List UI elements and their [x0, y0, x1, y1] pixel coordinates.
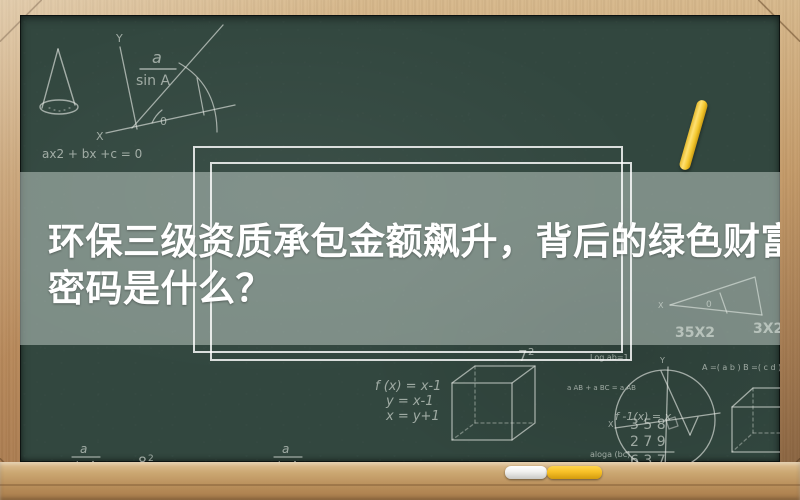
chalk-small-equation: a AB + a BC = a AB: [567, 384, 636, 392]
chalk-log-label: Log ab=1: [590, 353, 629, 362]
chalk-fx-line3: x = y+1: [385, 409, 440, 424]
chalk-axis-y: [120, 47, 137, 129]
chalk-alog-label: aloga (bc): [590, 450, 630, 459]
chalk-exponent-8: 8: [138, 455, 147, 462]
chalkboard-surface: a sin A Y X 0 ax2 + bx +c = 0: [20, 15, 780, 462]
chalk-fx-line1: f (x) = x-1: [375, 379, 441, 394]
chalk-inverse-function: f -1(x) = x: [615, 410, 672, 423]
chalk-label-3x2: 3X2: [753, 321, 780, 337]
chalk-exponent-8-sup: 2: [148, 454, 154, 462]
chalk-arc-large: [179, 63, 217, 132]
chalk-exponent-7: 7: [518, 347, 528, 365]
chalk-label-35x2: 35X2: [675, 325, 715, 341]
chalk-cone-dots: [49, 108, 70, 111]
chalk-fraction-denominator-sina: sin A: [136, 73, 171, 89]
chalk-tray-yellow: [547, 466, 602, 479]
chalk-arith-row3: 6 3 7: [630, 453, 666, 462]
chalk-exponent-7-sup: 2: [528, 347, 534, 358]
chalk-cone: [40, 49, 78, 114]
chalk-angle-arc: [152, 110, 162, 123]
chalk-fraction-numerator-a: a: [152, 48, 162, 67]
chalk-axis-label-x: X: [96, 130, 104, 143]
chalk-axis-x: [106, 105, 235, 133]
poster-canvas: a sin A Y X 0 ax2 + bx +c = 0: [0, 0, 800, 500]
chalk-axis-label-y: Y: [115, 32, 123, 45]
chalk-arith-row1: 3 5 8: [630, 417, 666, 433]
chalk-matrix-row: A =( a b ) B =( c d ) I =( 1 0 ): [702, 363, 780, 372]
chalk-stick-yellow: [678, 99, 708, 171]
chalk-fx-line2: y = x-1: [385, 394, 434, 409]
chalk-fraction2-num: a: [80, 442, 87, 456]
chalk-tray-white: [505, 466, 547, 479]
chalk-circle-diagram: [615, 367, 720, 462]
chalk-ray-diagonal: [132, 25, 223, 128]
chalk-fraction3-num: a: [282, 442, 289, 456]
chalk-arith-row2: 2 7 9: [630, 434, 666, 450]
chalk-circle-axis-y: Y: [659, 356, 665, 365]
chalk-tray-ledge: [0, 462, 800, 500]
chalk-cube-center: [452, 366, 535, 440]
chalk-angle-label: 0: [160, 115, 167, 128]
chalk-perp-mark: [197, 78, 204, 115]
chalk-cube-right: [732, 388, 780, 452]
chalk-circle-axis-x: X: [608, 420, 614, 429]
page-title: 环保三级资质承包金额飙升，背后的绿色财富密码是什么？: [48, 218, 780, 312]
chalk-quadratic-equation: ax2 + bx +c = 0: [42, 147, 142, 161]
